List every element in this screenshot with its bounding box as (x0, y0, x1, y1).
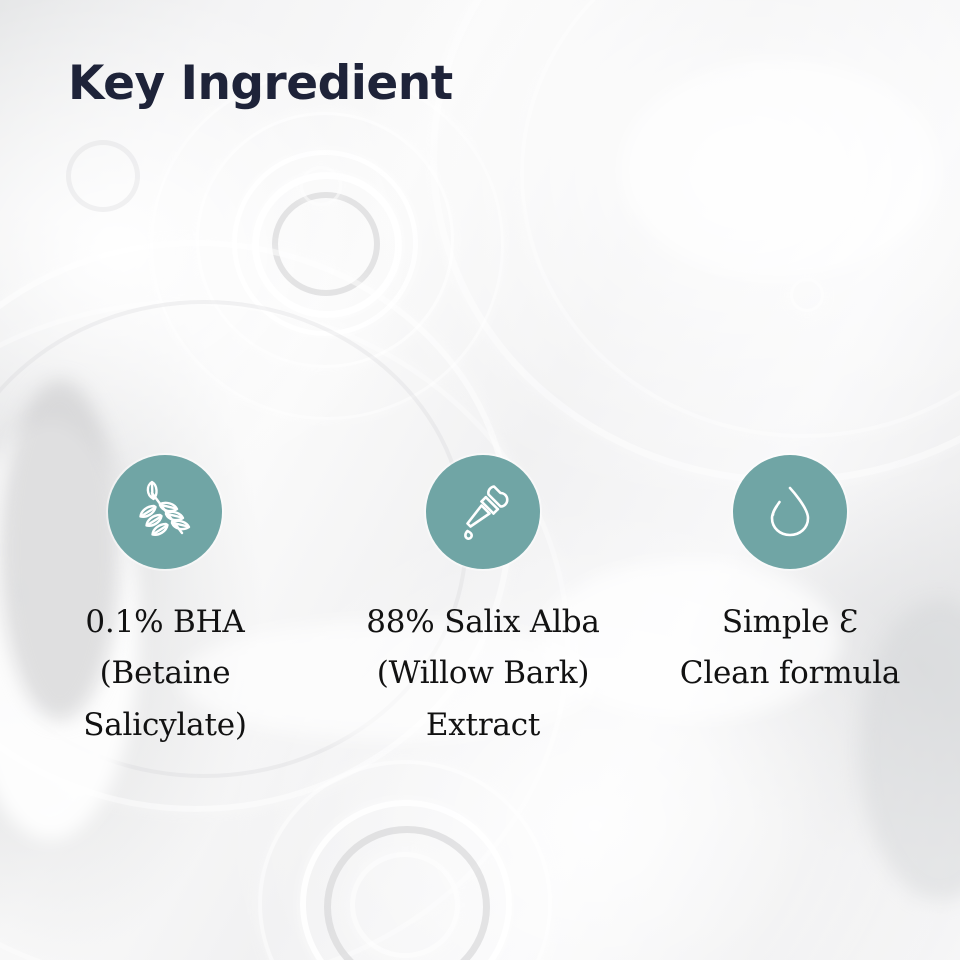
caption-line: Simple Ɛ (630, 597, 950, 648)
leaf-branch-icon (108, 455, 222, 569)
feature-item-bha: 0.1% BHA (Betaine Salicylate) (5, 455, 325, 751)
key-ingredient-infographic: Key Ingredient (0, 0, 960, 960)
dropper-pipette-icon (426, 455, 540, 569)
page-title: Key Ingredient (68, 56, 453, 111)
caption-line: (Betaine (5, 648, 325, 699)
feature-item-clean-formula: Simple Ɛ Clean formula (630, 455, 950, 700)
feature-caption: Simple Ɛ Clean formula (630, 597, 950, 700)
caption-line: (Willow Bark) (323, 648, 643, 699)
caption-line: Clean formula (630, 648, 950, 699)
caption-line: Extract (323, 700, 643, 751)
water-droplet-icon (733, 455, 847, 569)
feature-item-salix-alba: 88% Salix Alba (Willow Bark) Extract (323, 455, 643, 751)
caption-line: 88% Salix Alba (323, 597, 643, 648)
feature-caption: 88% Salix Alba (Willow Bark) Extract (323, 597, 643, 751)
caption-line: 0.1% BHA (5, 597, 325, 648)
caption-line: Salicylate) (5, 700, 325, 751)
feature-caption: 0.1% BHA (Betaine Salicylate) (5, 597, 325, 751)
